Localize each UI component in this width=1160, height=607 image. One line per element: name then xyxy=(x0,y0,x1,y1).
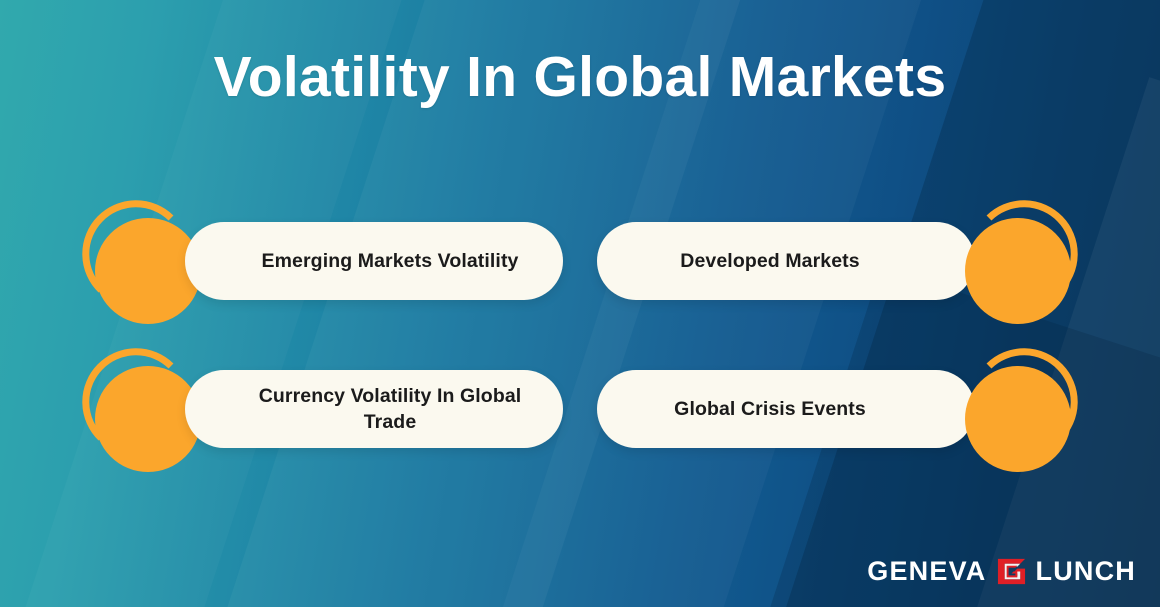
geneva-lunch-g-mark-icon xyxy=(996,556,1027,587)
items-grid: Emerging Markets Volatility Developed Ma… xyxy=(0,196,1160,486)
orange-circle-badge xyxy=(71,344,201,474)
circle-icon xyxy=(965,366,1071,472)
orange-circle-badge xyxy=(959,344,1089,474)
list-item[interactable]: Global Crisis Events xyxy=(597,344,1103,474)
list-item[interactable]: Emerging Markets Volatility xyxy=(57,196,563,326)
item-card[interactable]: Global Crisis Events xyxy=(597,370,975,448)
circle-icon xyxy=(95,366,201,472)
logo-word-geneva: GENEVA xyxy=(867,558,986,585)
circle-icon xyxy=(95,218,201,324)
orange-circle-badge xyxy=(71,196,201,326)
item-card[interactable]: Emerging Markets Volatility xyxy=(185,222,563,300)
list-item-label: Global Crisis Events xyxy=(674,396,866,422)
list-item-label: Emerging Markets Volatility xyxy=(262,248,519,274)
orange-circle-badge xyxy=(959,196,1089,326)
item-card[interactable]: Developed Markets xyxy=(597,222,975,300)
list-item-label: Developed Markets xyxy=(680,248,859,274)
brand-logo[interactable]: GENEVA LUNCH xyxy=(867,556,1136,587)
infographic-poster: Volatility In Global Markets Emerging Ma… xyxy=(0,0,1160,607)
page-title: Volatility In Global Markets xyxy=(0,48,1160,108)
logo-word-lunch: LUNCH xyxy=(1036,558,1137,585)
circle-icon xyxy=(965,218,1071,324)
list-item[interactable]: Developed Markets xyxy=(597,196,1103,326)
list-item-label: Currency Volatility In Global Trade xyxy=(239,383,541,436)
list-item[interactable]: Currency Volatility In Global Trade xyxy=(57,344,563,474)
item-card[interactable]: Currency Volatility In Global Trade xyxy=(185,370,563,448)
